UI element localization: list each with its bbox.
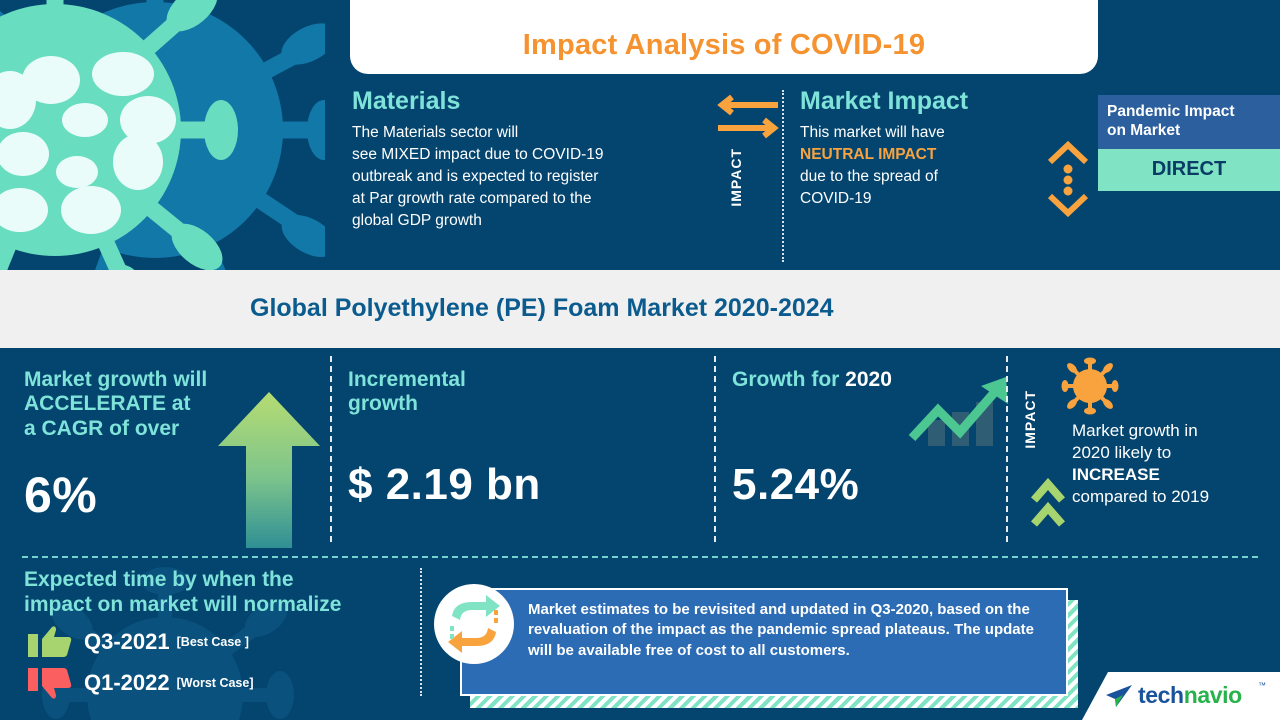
infographic-root: Impact Analysis of COVID-19 Materials Th… bbox=[0, 0, 1280, 720]
stat-cagr-line-1: Market growth will bbox=[24, 368, 207, 391]
impact-panel-label: IMPACT bbox=[1022, 390, 1038, 449]
pandemic-header-line-2: on Market bbox=[1107, 122, 1180, 139]
worst-case-row: Q1-2022 [Worst Case] bbox=[24, 666, 424, 700]
pandemic-impact-header: Pandemic Impact on Market bbox=[1098, 95, 1280, 149]
stat-divider-3 bbox=[1006, 356, 1008, 542]
page-title: Impact Analysis of COVID-19 bbox=[523, 29, 925, 74]
materials-line-1: The Materials sector will bbox=[352, 124, 518, 141]
stat-divider-1 bbox=[330, 356, 332, 542]
pandemic-header-line-1: Pandemic Impact bbox=[1107, 103, 1235, 120]
stat-cagr: Market growth will ACCELERATE at a CAGR … bbox=[24, 348, 224, 550]
logo-part-1: tech bbox=[1138, 682, 1184, 708]
market-impact-line-3: COVID-19 bbox=[800, 190, 872, 207]
impact-divider: IMPACT bbox=[706, 86, 786, 256]
bottom-vertical-divider bbox=[420, 568, 422, 696]
best-case-quarter: Q3-2021 bbox=[84, 629, 170, 655]
logo-trademark: ™ bbox=[1258, 681, 1266, 690]
market-impact-line-1: This market will have bbox=[800, 124, 945, 141]
worst-case-label: [Worst Case] bbox=[177, 676, 254, 690]
double-chevron-up-icon bbox=[1030, 472, 1066, 532]
stat-growth-label-teal: Growth for bbox=[732, 368, 845, 391]
market-impact-highlight: NEUTRAL IMPACT bbox=[800, 146, 936, 163]
note-box: Market estimates to be revisited and upd… bbox=[460, 588, 1068, 696]
expected-heading: Expected time by when the impact on mark… bbox=[24, 568, 424, 618]
expected-heading-line-1: Expected time by when the bbox=[24, 568, 294, 591]
stat-cagr-line-2: ACCELERATE at bbox=[24, 392, 190, 415]
impact-text-bold: INCREASE bbox=[1072, 465, 1160, 484]
impact-text-line-3: compared to 2019 bbox=[1072, 487, 1209, 506]
impact-label: IMPACT bbox=[728, 148, 744, 207]
vertical-dotted-divider bbox=[782, 90, 784, 262]
pandemic-impact-value: DIRECT bbox=[1098, 149, 1280, 191]
stats-row: Market growth will ACCELERATE at a CAGR … bbox=[0, 348, 1280, 550]
stat-incremental-line-2: growth bbox=[348, 392, 418, 415]
materials-body: The Materials sector will see MIXED impa… bbox=[352, 122, 697, 232]
horizontal-dashed-divider bbox=[22, 556, 1258, 558]
stat-growth-value: 5.24% bbox=[732, 460, 859, 510]
page-title-card: Impact Analysis of COVID-19 bbox=[350, 0, 1098, 74]
up-arrow-icon bbox=[214, 388, 324, 548]
thumbs-up-icon bbox=[24, 625, 76, 659]
thumbs-down-icon bbox=[24, 666, 76, 700]
stat-growth-label-year: 2020 bbox=[845, 368, 892, 391]
impact-text-line-2: 2020 likely to bbox=[1072, 443, 1171, 462]
paper-plane-icon bbox=[1106, 684, 1134, 708]
stat-growth-label: Growth for 2020 bbox=[732, 368, 1002, 392]
expected-time-block: Expected time by when the impact on mark… bbox=[24, 568, 424, 700]
report-title-band: Global Polyethylene (PE) Foam Market 202… bbox=[0, 270, 1280, 348]
pandemic-impact-box: Pandemic Impact on Market DIRECT bbox=[1098, 95, 1280, 191]
expected-heading-line-2: impact on market will normalize bbox=[24, 593, 341, 616]
market-impact-line-2: due to the spread of bbox=[800, 168, 938, 185]
logo-part-2: navio bbox=[1184, 682, 1242, 708]
stat-divider-2 bbox=[714, 356, 716, 542]
logo-wordmark: technavio bbox=[1138, 682, 1242, 709]
refresh-cycle-icon bbox=[432, 582, 516, 666]
stat-cagr-value: 6% bbox=[24, 466, 97, 524]
materials-line-2: see MIXED impact due to COVID-19 bbox=[352, 146, 604, 163]
note-text: Market estimates to be revisited and upd… bbox=[462, 590, 1066, 661]
worst-case-quarter: Q1-2022 bbox=[84, 670, 170, 696]
materials-line-5: global GDP growth bbox=[352, 212, 482, 229]
upper-section: Materials The Materials sector will see … bbox=[0, 78, 1280, 268]
impact-panel: IMPACT Market growth in 2020 likely to I… bbox=[1014, 348, 1280, 550]
chevron-up-dots-chevron-down-icon bbox=[1042, 140, 1094, 218]
technavio-logo: technavio ™ bbox=[1082, 672, 1280, 720]
left-right-arrows-icon bbox=[712, 92, 784, 140]
virus-icon bbox=[1060, 356, 1120, 416]
best-case-label: [Best Case ] bbox=[177, 635, 249, 649]
best-case-row: Q3-2021 [Best Case ] bbox=[24, 625, 424, 659]
materials-block: Materials The Materials sector will see … bbox=[352, 88, 697, 232]
stat-incremental-value: $ 2.19 bn bbox=[348, 460, 541, 510]
materials-heading: Materials bbox=[352, 88, 697, 116]
materials-line-4: at Par growth rate compared to the bbox=[352, 190, 592, 207]
materials-line-3: outbreak and is expected to register bbox=[352, 168, 598, 185]
impact-text-line-1: Market growth in bbox=[1072, 421, 1198, 440]
stat-cagr-line-3: a CAGR of over bbox=[24, 417, 179, 440]
impact-panel-text: Market growth in 2020 likely to INCREASE… bbox=[1072, 420, 1280, 508]
stat-growth-2020: Growth for 2020 5.24% bbox=[732, 348, 1002, 550]
stat-incremental-line-1: Incremental bbox=[348, 368, 466, 391]
stat-incremental-label: Incremental growth bbox=[348, 368, 548, 417]
stat-incremental-growth: Incremental growth $ 2.19 bn bbox=[348, 348, 688, 550]
report-title: Global Polyethylene (PE) Foam Market 202… bbox=[250, 294, 834, 323]
stat-cagr-label: Market growth will ACCELERATE at a CAGR … bbox=[24, 368, 239, 441]
market-impact-heading: Market Impact bbox=[800, 88, 1100, 116]
